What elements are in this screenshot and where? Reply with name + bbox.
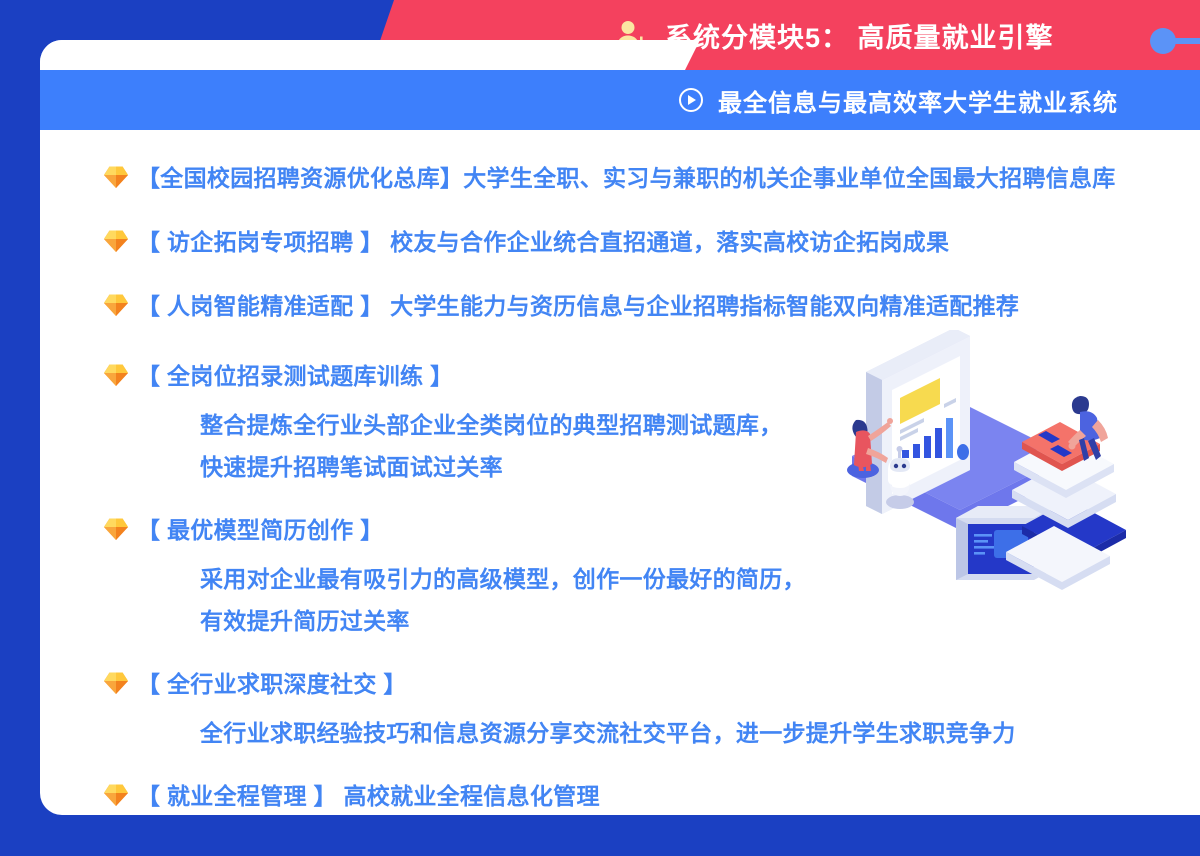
subheader-title: 最全信息与最高效率大学生就业系统 xyxy=(718,83,1118,118)
gem-icon xyxy=(103,286,137,318)
list-item-detail-line: 全行业求职经验技巧和信息资源分享交流社交平台，进一步提升学生求职竞争力 xyxy=(200,712,1200,754)
list-item[interactable]: 【 就业全程管理 】 高校就业全程信息化管理 xyxy=(40,776,1200,816)
poster-root: 系统分模块5： 高质量就业引擎 最全信息与最高效率大学生就业系统 xyxy=(0,0,1200,856)
list-item-details: 采用对企业最有吸引力的高级模型，创作一份最好的简历， 有效提升简历过关率 xyxy=(40,558,1200,642)
list-item-detail-line: 整合提炼全行业头部企业全类岗位的典型招聘测试题库， xyxy=(200,404,1200,446)
list-item-detail-line: 采用对企业最有吸引力的高级模型，创作一份最好的简历， xyxy=(200,558,1200,600)
list-item-heading: 【 人岗智能精准适配 】 大学生能力与资历信息与企业招聘指标智能双向精准适配推荐 xyxy=(137,286,1019,326)
gem-icon xyxy=(103,158,137,190)
list-item[interactable]: 【 全行业求职深度社交 】 xyxy=(40,664,1200,704)
list-item[interactable]: 【 全岗位招录测试题库训练 】 xyxy=(40,356,1200,396)
banner-title: 系统分模块5： 高质量就业引擎 xyxy=(665,16,1054,55)
gem-icon xyxy=(103,356,137,388)
list-item-detail-line: 快速提升招聘笔试面试过关率 xyxy=(200,446,1200,488)
list-item-heading: 【 全岗位招录测试题库训练 】 xyxy=(137,356,453,396)
subheader-bar: 最全信息与最高效率大学生就业系统 xyxy=(40,70,1200,130)
gem-icon xyxy=(103,222,137,254)
accent-dot xyxy=(1150,28,1176,54)
list-item[interactable]: 【 人岗智能精准适配 】 大学生能力与资历信息与企业招聘指标智能双向精准适配推荐 xyxy=(40,286,1200,326)
list-item-details: 全行业求职经验技巧和信息资源分享交流社交平台，进一步提升学生求职竞争力 xyxy=(40,712,1200,754)
list-item[interactable]: 【 访企拓岗专项招聘 】 校友与合作企业统合直招通道，落实高校访企拓岗成果 xyxy=(40,222,1200,262)
list-item[interactable]: 【 最优模型简历创作 】 xyxy=(40,510,1200,550)
gem-icon xyxy=(103,664,137,696)
card-notch xyxy=(40,40,700,70)
list-item[interactable]: 【全国校园招聘资源优化总库】大学生全职、实习与兼职的机关企事业单位全国最大招聘信… xyxy=(40,158,1200,198)
list-item-details: 整合提炼全行业头部企业全类岗位的典型招聘测试题库， 快速提升招聘笔试面试过关率 xyxy=(40,404,1200,488)
list-item-heading: 【 全行业求职深度社交 】 xyxy=(137,664,407,704)
list-item-heading: 【 最优模型简历创作 】 xyxy=(137,510,383,550)
feature-list: 【全国校园招聘资源优化总库】大学生全职、实习与兼职的机关企事业单位全国最大招聘信… xyxy=(40,130,1200,815)
list-item-heading: 【 访企拓岗专项招聘 】 校友与合作企业统合直招通道，落实高校访企拓岗成果 xyxy=(137,222,949,262)
circle-play-icon xyxy=(678,87,718,113)
list-item-heading: 【 就业全程管理 】 高校就业全程信息化管理 xyxy=(137,776,600,816)
list-item-heading: 【全国校园招聘资源优化总库】大学生全职、实习与兼职的机关企事业单位全国最大招聘信… xyxy=(137,158,1116,198)
gem-icon xyxy=(103,776,137,808)
list-item-detail-line: 有效提升简历过关率 xyxy=(200,600,1200,642)
gem-icon xyxy=(103,510,137,542)
